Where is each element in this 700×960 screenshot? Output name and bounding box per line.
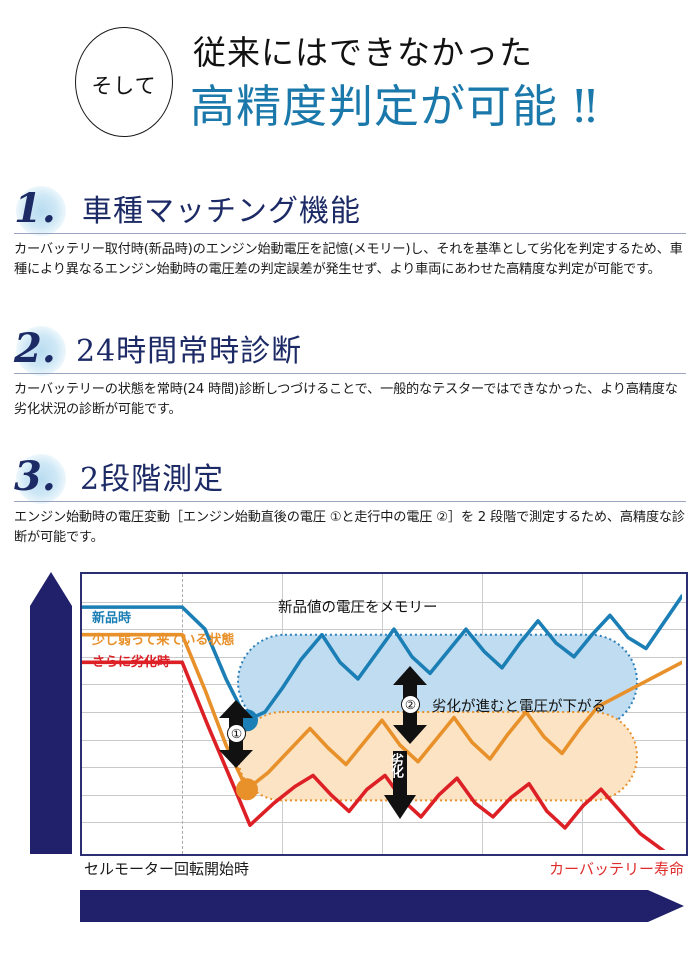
legend-chip-degraded: さらに劣化時 xyxy=(92,651,170,670)
y-axis-label: バッテリー電圧 xyxy=(0,560,42,842)
section-2-divider xyxy=(14,373,686,374)
legend-label-weak: 少し弱って来ている状態 xyxy=(92,633,234,648)
section-3-title: 2段階測定 xyxy=(80,454,224,498)
section-3-divider xyxy=(14,501,686,502)
memory-band-note: 新品値の電圧をメモリー xyxy=(278,596,438,617)
legend-chip-new: 新品時 xyxy=(92,607,131,626)
chart-marker-1 xyxy=(236,778,258,800)
chart-plot-area: 新品時 少し弱って来ている状態 さらに劣化時 新品値の電圧をメモリー ① ② 劣… xyxy=(80,572,688,856)
x-axis-right-label: カーバッテリー寿命 xyxy=(549,858,684,879)
legend-chip-weak: 少し弱って来ている状態 xyxy=(92,629,234,648)
section-1-title: 車種マッチング機能 xyxy=(82,186,361,230)
header-banner: そして 従来にはできなかった 高精度判定が可能 ‼ xyxy=(0,0,700,160)
arrow-1-badge: ① xyxy=(227,724,246,743)
chart-bands xyxy=(238,635,637,801)
section-2-number: 2. xyxy=(14,324,56,374)
arrow-2-note: 劣化が進むと電圧が下がる xyxy=(432,695,606,716)
arrow-2-badge: ② xyxy=(401,695,420,714)
soshite-badge: そして xyxy=(75,27,173,137)
battery-voltage-chart: バッテリー電圧 エンジン回転中(時間) セルモーター回転開始時 カーバッテリー寿… xyxy=(0,560,700,960)
section-3-number-badge: 3. xyxy=(14,452,80,500)
section-1-body: カーバッテリー取付時(新品時)のエンジン始動電圧を記憶(メモリー)し、それを基準… xyxy=(14,240,688,280)
section-1-number-badge: 1. xyxy=(14,184,80,232)
header-title: 高精度判定が可能 ‼ xyxy=(190,70,598,135)
soshite-badge-label: そして xyxy=(91,70,156,100)
section-3-number: 3. xyxy=(14,452,56,502)
legend-label-degraded: さらに劣化時 xyxy=(92,655,170,670)
section-2-title: 24時間常時診断 xyxy=(76,326,302,370)
header-subtitle: 従来にはできなかった xyxy=(193,26,533,74)
x-axis-arrow xyxy=(80,890,684,922)
section-2-number-badge: 2. xyxy=(14,324,80,372)
section-1-divider xyxy=(14,233,686,234)
x-axis-left-label: セルモーター回転開始時 xyxy=(84,858,249,879)
chart-band-1 xyxy=(238,712,637,800)
section-2-body: カーバッテリーの状態を常時(24 時間)診断しつづけることで、一般的なテスターで… xyxy=(14,380,688,420)
legend-label-new: 新品時 xyxy=(92,611,131,626)
section-3-body: エンジン始動時の電圧変動［エンジン始動直後の電圧 ①と走行中の電圧 ②］を 2 … xyxy=(14,508,688,548)
section-1-number: 1. xyxy=(14,184,56,234)
arrow-rekka-label: 劣化 xyxy=(386,753,405,777)
